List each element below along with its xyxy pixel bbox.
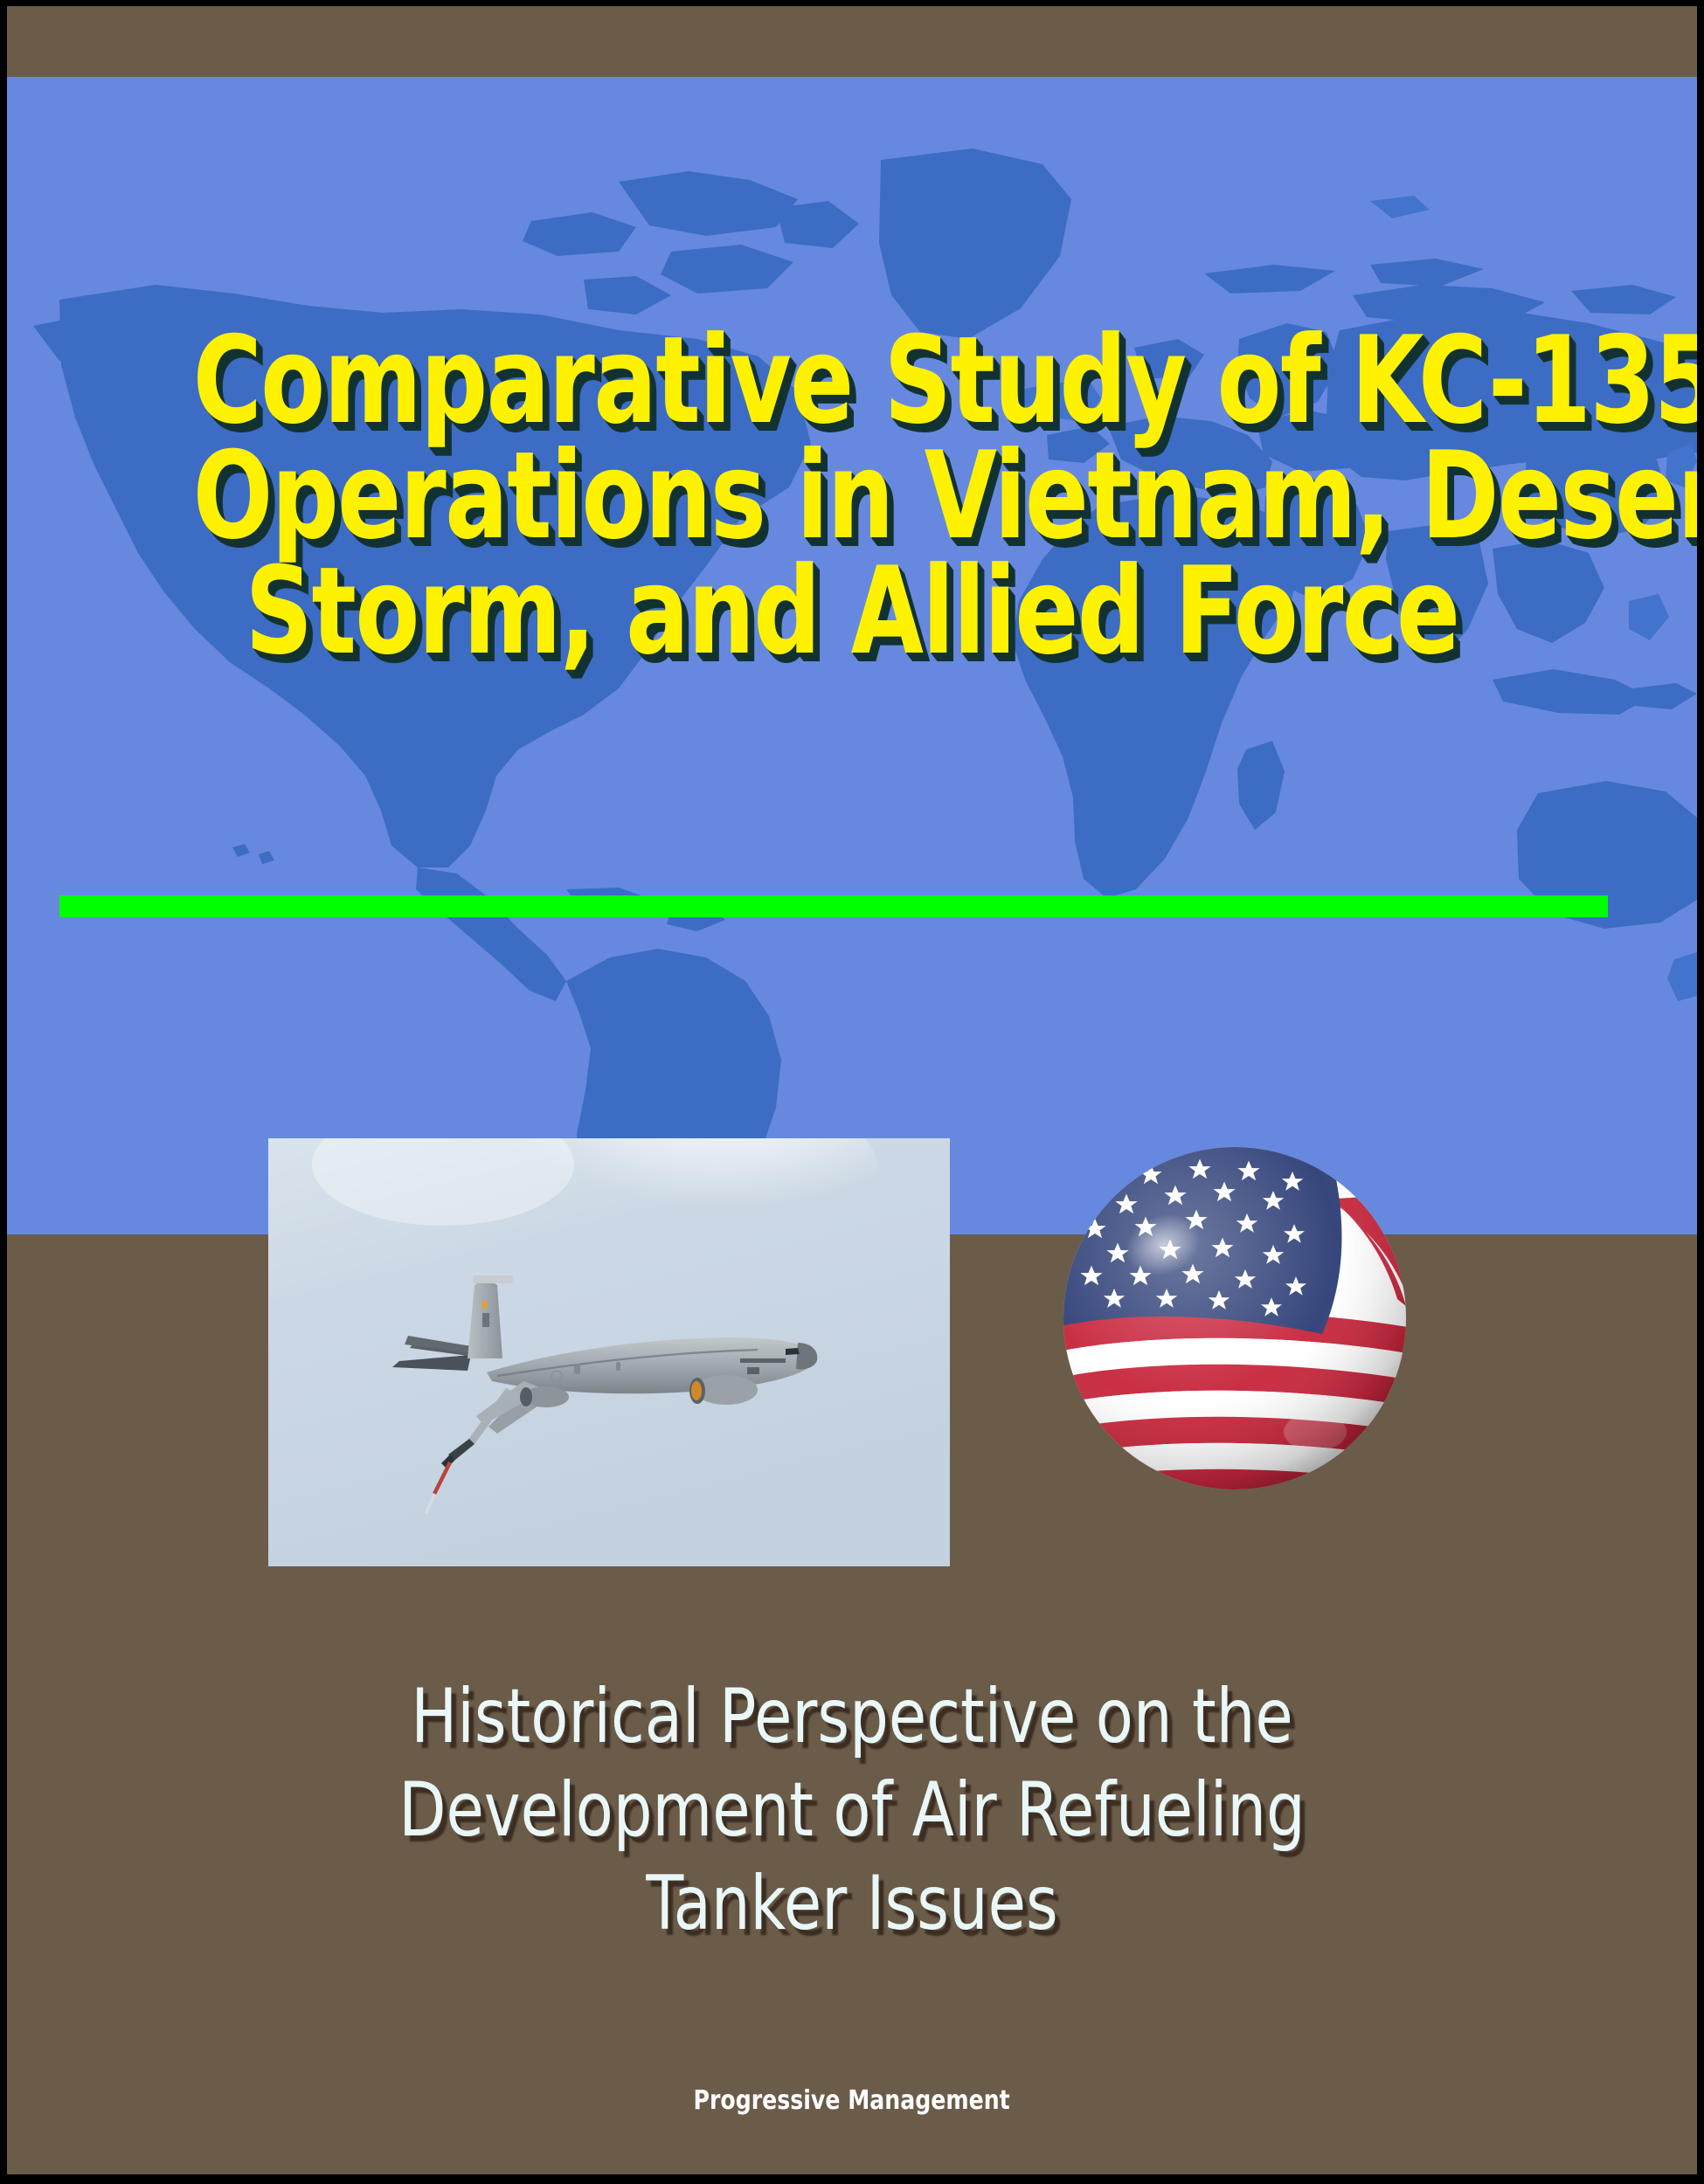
cover-title: Comparative Study of KC-135 Operations i… (7, 329, 1697, 675)
cover-panel: Comparative Study of KC-135 Operations i… (7, 6, 1697, 2174)
subtitle-line-2: Development of Air Refueling (159, 1764, 1545, 1857)
green-divider-rule (59, 895, 1608, 917)
subtitle-line-3: Tanker Issues (159, 1857, 1545, 1951)
publisher-name: Progressive Management (7, 2085, 1697, 2116)
subtitle-line-1: Historical Perspective on the (159, 1670, 1545, 1764)
title-line-3: Storm, and Allied Force (193, 560, 1512, 675)
book-cover: Comparative Study of KC-135 Operations i… (0, 0, 1704, 2184)
kc-135-tanker-photo (268, 1138, 950, 1566)
cover-subtitle: Historical Perspective on the Developmen… (7, 1670, 1697, 1951)
publisher-label: Progressive Management (694, 2085, 1010, 2116)
us-flag-sphere-graphic (1060, 1144, 1410, 1493)
